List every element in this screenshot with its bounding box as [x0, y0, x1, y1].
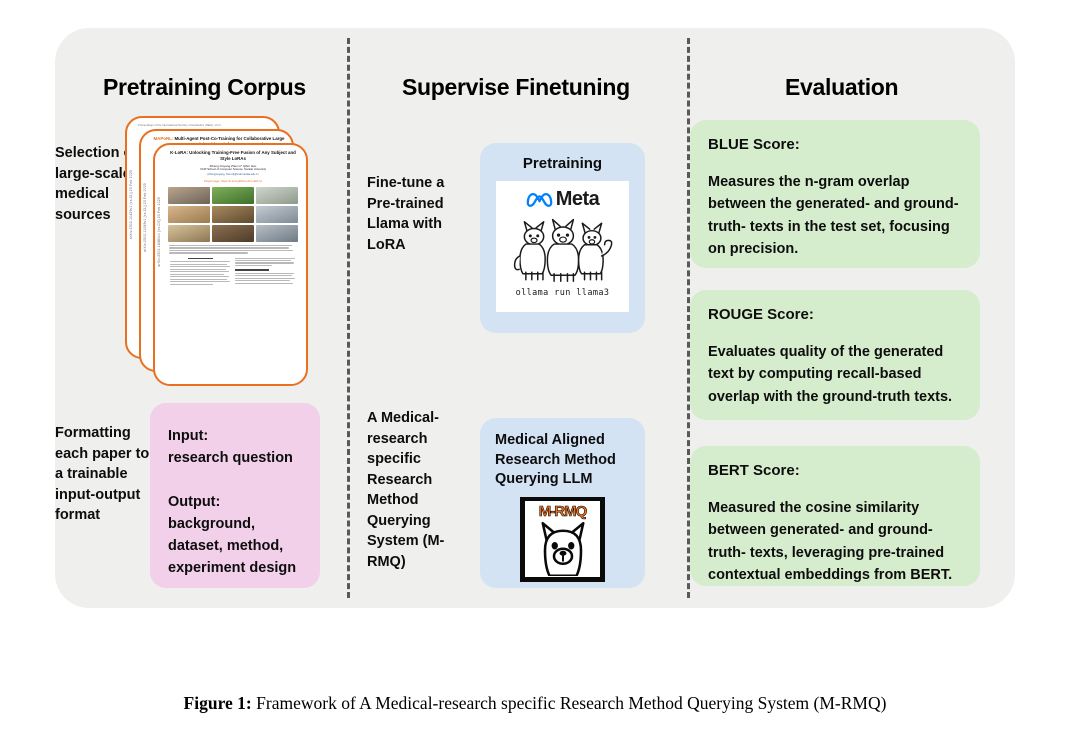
label-finetune-llama: Fine-tune a Pre-trained Llama with LoRA: [367, 173, 463, 255]
paper-project-label-1: Project page:: [204, 179, 221, 183]
eval-title-rouge: ROUGE Score:: [708, 306, 962, 323]
figure-caption: Figure 1: Framework of A Medical-researc…: [0, 693, 1070, 714]
paper-title-prefix-1: K-LoRA:: [170, 150, 189, 155]
eval-title-blue: BLUE Score:: [708, 136, 962, 153]
pretraining-model-card: Pretraining Meta: [480, 143, 645, 333]
label-mrmq-system: A Medical-research specific Research Met…: [367, 408, 459, 573]
label-formatting-papers: Formatting each paper to a trainable inp…: [55, 423, 159, 526]
eval-card-bert-score: BERT Score: Measured the cosine similari…: [690, 446, 980, 586]
paper-arxiv-id-2: arXiv:2502.11089v1 [cs.CL] 23 Feb 2025: [143, 183, 147, 252]
mrmq-logo-inner: M-RMQ: [525, 501, 600, 577]
paper-two-column-body-1: [166, 258, 300, 287]
paper-email-1: {zihengouyang, zhen.li}@mail.nankai.edu.…: [166, 173, 300, 176]
meta-llama-panel: Meta: [496, 181, 629, 312]
mrmq-logo: M-RMQ: [520, 497, 605, 582]
figure-caption-label: Figure 1:: [184, 693, 252, 713]
meta-brand-row: Meta: [526, 187, 600, 212]
mrmq-model-card: Medical Aligned Research Method Querying…: [480, 418, 645, 588]
eval-body-blue: Measures the n-gram overlap between the …: [708, 171, 962, 261]
llama-face-icon: [533, 520, 593, 576]
paper-figure-grid-1: [166, 187, 300, 242]
paper-stack: arXiv:2502.10429v1 [cs.CL] 23 Feb 2025 P…: [125, 116, 320, 386]
eval-title-bert: BERT Score:: [708, 462, 962, 479]
paper-title-1: K-LoRA: Unlocking Training-Free Fusion o…: [166, 150, 300, 162]
mrmq-logo-text: M-RMQ: [539, 503, 587, 520]
ollama-command-text: ollama run llama3: [516, 288, 610, 298]
paper-project-link-1[interactable]: Project page: https://k-lora.github.io/K…: [166, 179, 300, 183]
figure-caption-text: Framework of A Medical-research specific…: [252, 693, 887, 713]
input-output-format-card: Input: research question Output: backgro…: [150, 403, 320, 588]
meta-infinity-icon: [526, 191, 553, 208]
paper-arxiv-id-1: arXiv:2502.18480v1 [cs.CV] 23 Feb 2025: [157, 197, 161, 267]
eval-body-rouge: Evaluates quality of the generated text …: [708, 341, 962, 408]
paper-project-url-1: https://k-lora.github.io/K-LoRA.io/: [221, 179, 262, 183]
column-header-pretraining-corpus: Pretraining Corpus: [103, 74, 306, 101]
three-llamas-icon: [511, 214, 615, 286]
paper-title-highlight-2: MAPoRL:: [154, 136, 175, 141]
paper-card-front: arXiv:2502.18480v1 [cs.CV] 23 Feb 2025 K…: [153, 143, 308, 386]
eval-card-blue-score: BLUE Score: Measures the n-gram overlap …: [690, 120, 980, 268]
eval-card-rouge-score: ROUGE Score: Evaluates quality of the ge…: [690, 290, 980, 420]
meta-brand-text: Meta: [556, 188, 600, 211]
paper-arxiv-id-3: arXiv:2502.10429v1 [cs.CL] 23 Feb 2025: [129, 170, 133, 239]
pretraining-card-title: Pretraining: [480, 155, 645, 172]
paper-venue-3: Proceedings of the International Society…: [138, 123, 272, 127]
framework-diagram-panel: Pretraining Corpus Supervise Finetuning …: [55, 28, 1015, 608]
column-header-evaluation: Evaluation: [785, 74, 898, 101]
paper-caption-lines-1: [166, 245, 300, 254]
paper-affiliation-1: VCIP School of Computer Science, Nankai …: [166, 168, 300, 172]
paper-title-main-1: Unlocking Training-Free Fusion of Any Su…: [189, 150, 296, 161]
column-divider-1: [347, 38, 350, 598]
mrmq-card-title: Medical Aligned Research Method Querying…: [480, 431, 645, 490]
column-header-supervise-finetuning: Supervise Finetuning: [402, 74, 630, 101]
eval-body-bert: Measured the cosine similarity between g…: [708, 497, 962, 587]
